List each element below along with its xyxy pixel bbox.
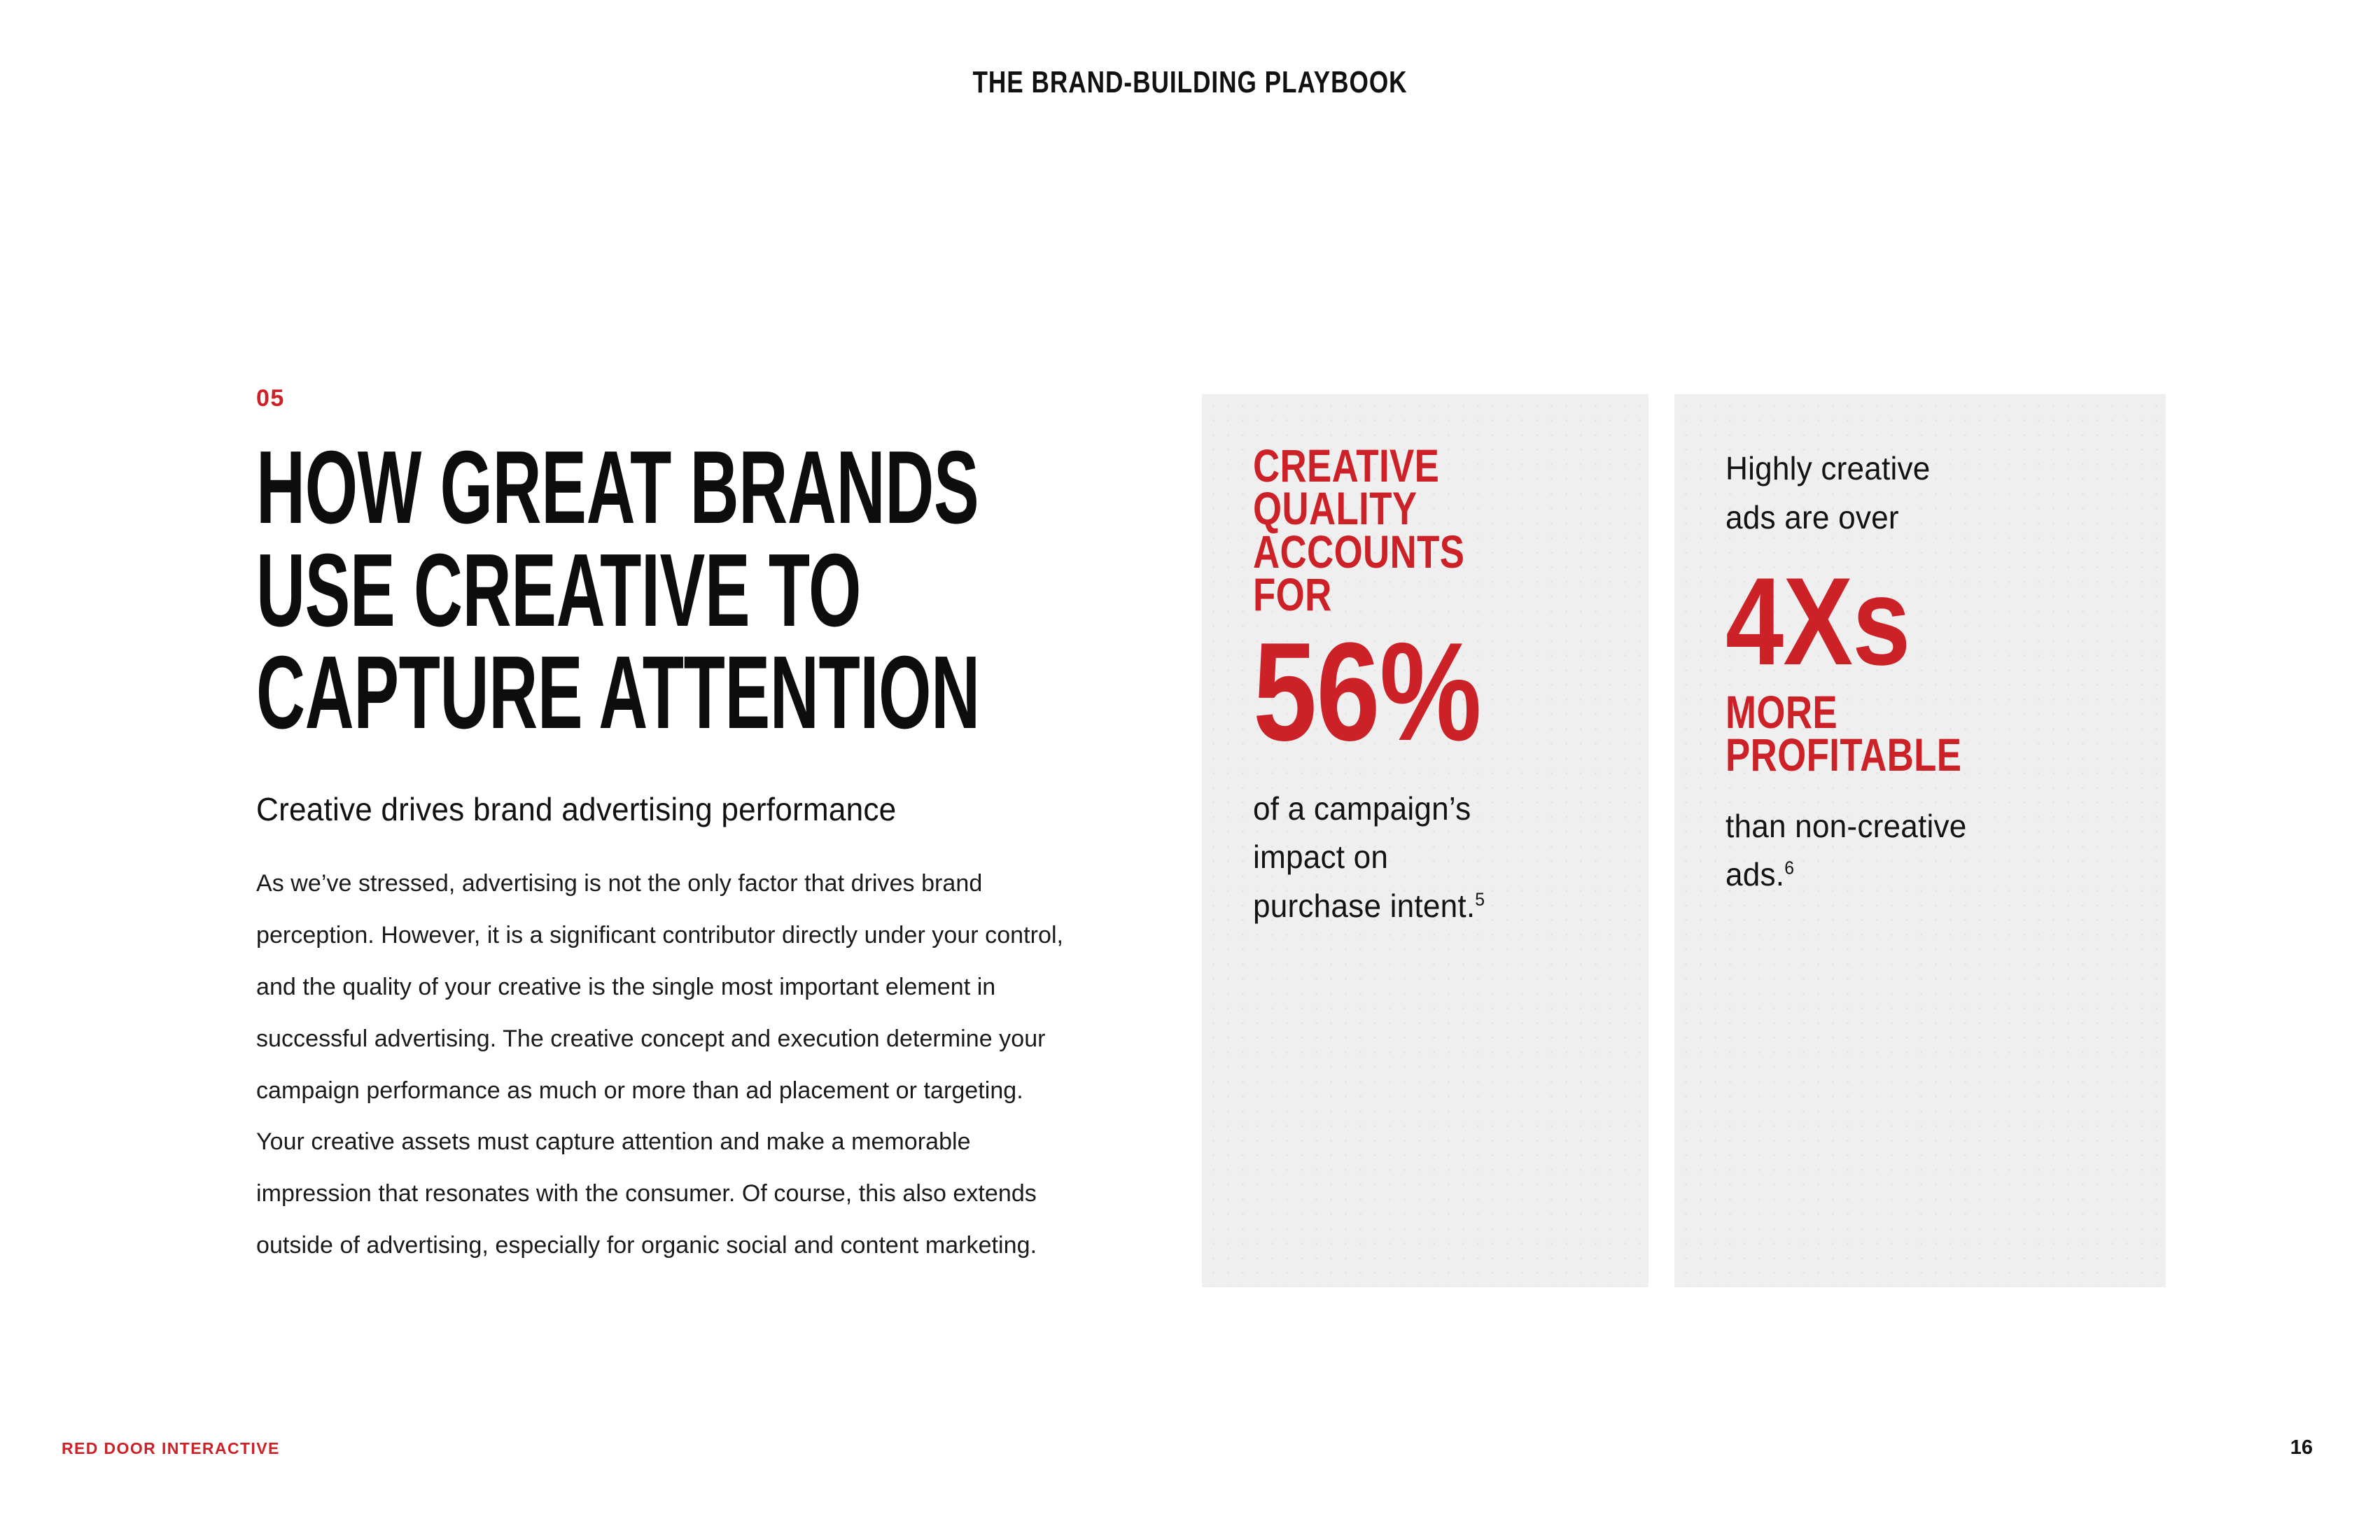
headline-line-2: USE CREATIVE TO — [256, 540, 797, 643]
headline-line-1: HOW GREAT BRANDS — [256, 437, 797, 540]
page-title: HOW GREAT BRANDS USE CREATIVE TO CAPTURE… — [256, 437, 1082, 745]
running-header: THE BRAND-BUILDING PLAYBOOK — [238, 67, 2142, 98]
stat-card-2-caption: than non-creative ads.6 — [1725, 802, 2121, 900]
footer-page-number: 16 — [2290, 1436, 2313, 1459]
stat-card-1-footnote-marker: 5 — [1475, 890, 1485, 910]
section-subheading: Creative drives brand advertising perfor… — [256, 791, 1049, 828]
stat-card-2-caption-line-2: ads. — [1725, 856, 1784, 892]
stat-card-creative-quality: CREATIVE QUALITY ACCOUNTS FOR 56% of a c… — [1202, 394, 1648, 1287]
stat-card-profitability: Highly creative ads are over 4Xs MORE PR… — [1674, 394, 2166, 1287]
stat-card-1-caption-line-3: purchase intent. — [1253, 888, 1475, 924]
stat-card-2-kicker-line-2: PROFITABLE — [1725, 734, 2055, 776]
stat-card-1-caption-line-1: of a campaign’s — [1253, 790, 1471, 827]
left-content-column: 05 HOW GREAT BRANDS USE CREATIVE TO CAPT… — [256, 386, 1082, 1272]
stat-card-1-value: 56% — [1253, 625, 1555, 759]
stat-card-2-lead-line-1: Highly creative — [1725, 450, 1931, 486]
stat-card-1-kicker-line-4: FOR — [1253, 573, 1547, 616]
stat-card-1-kicker: CREATIVE QUALITY ACCOUNTS FOR — [1253, 444, 1620, 617]
stat-card-2-lead: Highly creative ads are over — [1725, 444, 2121, 542]
stat-card-1-caption: of a campaign’s impact on purchase inten… — [1253, 785, 1606, 932]
stat-card-2-lead-line-2: ads are over — [1725, 499, 1899, 535]
footer-brand: RED DOOR INTERACTIVE — [62, 1439, 280, 1458]
slide-page: THE BRAND-BUILDING PLAYBOOK 05 HOW GREAT… — [0, 0, 2380, 1540]
stat-card-1-content: CREATIVE QUALITY ACCOUNTS FOR 56% of a c… — [1253, 444, 1620, 931]
stat-card-2-caption-line-1: than non-creative — [1725, 808, 1967, 844]
stat-card-2-kicker-line-1: MORE — [1725, 691, 2055, 734]
headline-line-3: CAPTURE ATTENTION — [256, 642, 797, 745]
stat-card-1-caption-line-2: impact on — [1253, 839, 1388, 875]
stat-card-2-kicker: MORE PROFITABLE — [1725, 691, 2138, 777]
stat-card-2-value: 4Xs — [1725, 559, 2072, 684]
stat-card-2-content: Highly creative ads are over 4Xs MORE PR… — [1725, 444, 2138, 899]
stat-card-1-kicker-line-3: ACCOUNTS — [1253, 531, 1547, 573]
stat-card-1-kicker-line-2: QUALITY — [1253, 487, 1547, 530]
stat-card-1-kicker-line-1: CREATIVE — [1253, 444, 1547, 487]
stat-card-2-footnote-marker: 6 — [1784, 859, 1794, 878]
body-paragraph: As we’ve stressed, advertising is not th… — [256, 858, 1072, 1271]
section-number: 05 — [256, 386, 1082, 410]
